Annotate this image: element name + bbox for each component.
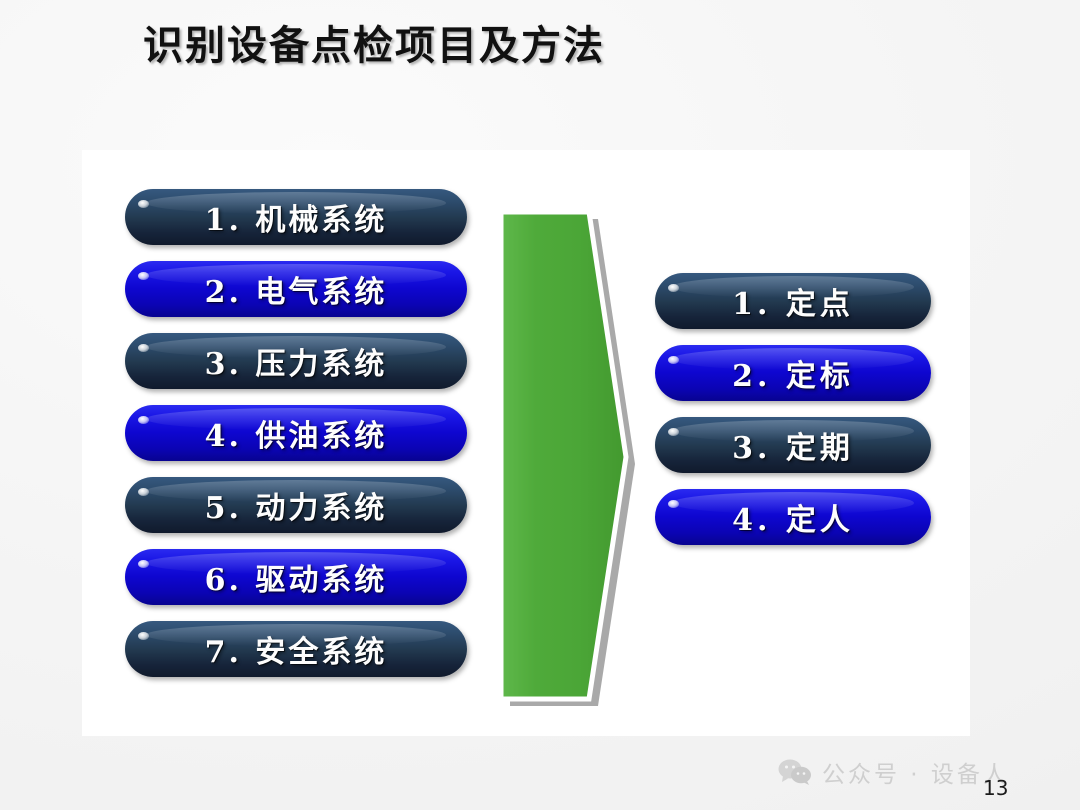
right-item-1[interactable]: 1. 定点 [655, 273, 931, 329]
right-item-1-label: 1. 定点 [732, 279, 854, 323]
gloss-highlight-icon [138, 560, 149, 568]
right-column-method-list: 1. 定点 2. 定标 3. 定期 4. 定人 [655, 273, 931, 545]
page-number: 13 [983, 776, 1008, 800]
green-arrow-right-icon [490, 202, 635, 704]
gloss-highlight-icon [138, 632, 149, 640]
left-item-3[interactable]: 3. 压力系统 [125, 333, 467, 389]
wechat-icon [778, 759, 812, 785]
left-item-2[interactable]: 2. 电气系统 [125, 261, 467, 317]
left-item-1-label: 1. 机械系统 [205, 195, 388, 239]
right-item-4[interactable]: 4. 定人 [655, 489, 931, 545]
left-item-5[interactable]: 5. 动力系统 [125, 477, 467, 533]
watermark: 公众号 · 设备人 [778, 755, 1009, 789]
left-item-4-label: 4. 供油系统 [205, 411, 388, 455]
gloss-highlight-icon [138, 344, 149, 352]
left-item-1[interactable]: 1. 机械系统 [125, 189, 467, 245]
gloss-highlight-icon [138, 200, 149, 208]
left-item-7-label: 7. 安全系统 [205, 627, 388, 671]
gloss-highlight-icon [668, 356, 679, 364]
right-item-4-label: 4. 定人 [732, 495, 854, 539]
left-column-system-list: 1. 机械系统 2. 电气系统 3. 压力系统 4. 供油系统 5. 动力系统 … [125, 189, 467, 677]
gloss-highlight-icon [668, 428, 679, 436]
content-panel: 1. 机械系统 2. 电气系统 3. 压力系统 4. 供油系统 5. 动力系统 … [82, 150, 970, 736]
right-item-2-label: 2. 定标 [732, 351, 854, 395]
right-item-3[interactable]: 3. 定期 [655, 417, 931, 473]
left-item-3-label: 3. 压力系统 [205, 339, 388, 383]
left-item-7[interactable]: 7. 安全系统 [125, 621, 467, 677]
gloss-highlight-icon [668, 500, 679, 508]
right-item-3-label: 3. 定期 [732, 423, 854, 467]
left-item-5-label: 5. 动力系统 [205, 483, 388, 527]
left-item-6-label: 6. 驱动系统 [205, 555, 388, 599]
left-item-6[interactable]: 6. 驱动系统 [125, 549, 467, 605]
left-item-4[interactable]: 4. 供油系统 [125, 405, 467, 461]
gloss-highlight-icon [138, 272, 149, 280]
right-item-2[interactable]: 2. 定标 [655, 345, 931, 401]
watermark-text: 公众号 · 设备人 [822, 755, 1009, 789]
gloss-highlight-icon [138, 488, 149, 496]
gloss-highlight-icon [668, 284, 679, 292]
gloss-highlight-icon [138, 416, 149, 424]
page-title: 识别设备点检项目及方法 [143, 13, 605, 71]
left-item-2-label: 2. 电气系统 [205, 267, 388, 311]
